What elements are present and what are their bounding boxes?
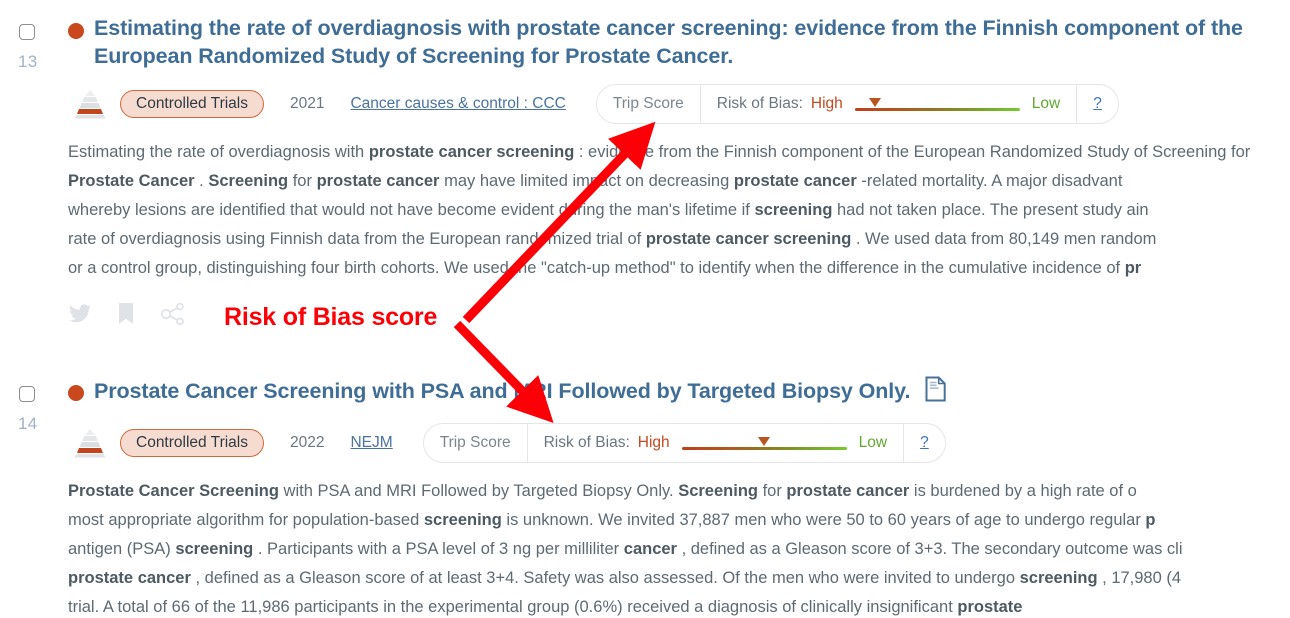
search-results-page: 13 Estimating the rate of overdiagnosis … bbox=[0, 0, 1290, 618]
abstract-text: antigen (PSA) bbox=[68, 540, 175, 558]
result-body: Prostate Cancer Screening with PSA and M… bbox=[68, 376, 1290, 618]
abstract-highlight-term: cancer bbox=[138, 569, 191, 587]
abstract-text: Estimating the rate of overdiagnosis wit… bbox=[68, 143, 369, 161]
risk-of-bias-scale[interactable] bbox=[682, 433, 847, 453]
journal-link[interactable]: NEJM bbox=[350, 434, 392, 452]
abstract-line: Prostate Cancer Screening with PSA and M… bbox=[68, 477, 1290, 506]
abstract-highlight-term: Prostate bbox=[68, 482, 134, 500]
abstract-highlight-term: prostate bbox=[317, 172, 382, 190]
risk-of-bias-widget: Trip Score Risk of Bias: High Low bbox=[596, 84, 1119, 124]
result-title-text: Estimating the rate of overdiagnosis wit… bbox=[94, 16, 1243, 68]
risk-of-bias-cell: Risk of Bias: High Low bbox=[528, 424, 903, 462]
abstract-text: with PSA and MRI Followed by Targeted Bi… bbox=[279, 482, 678, 500]
risk-of-bias-label: Risk of Bias: bbox=[717, 95, 803, 113]
abstract-highlight-term: cancer bbox=[386, 172, 439, 190]
abstract-highlight-term: pr bbox=[1125, 259, 1142, 277]
evidence-pyramid-icon bbox=[68, 428, 112, 458]
abstract-text: , 17,980 (4 bbox=[1098, 569, 1181, 587]
risk-of-bias-cell: Risk of Bias: High Low bbox=[701, 85, 1076, 123]
abstract-line: or a control group, distinguishing four … bbox=[68, 254, 1290, 283]
annotation-label: Risk of Bias score bbox=[224, 303, 437, 332]
risk-score-marker-icon bbox=[758, 437, 770, 446]
result-title-row: Estimating the rate of overdiagnosis wit… bbox=[68, 14, 1290, 70]
evidence-pyramid-icon bbox=[68, 89, 112, 119]
abstract-text: for bbox=[758, 482, 786, 500]
journal-link[interactable]: Cancer causes & control : CCC bbox=[350, 95, 565, 113]
abstract-line: rate of overdiagnosis using Finnish data… bbox=[68, 225, 1290, 254]
risk-of-bias-widget: Trip Score Risk of Bias: High Low bbox=[423, 423, 946, 463]
risk-gradient-bar bbox=[682, 447, 847, 451]
abstract-highlight-term: prostate bbox=[68, 569, 133, 587]
result-checkbox[interactable] bbox=[19, 24, 35, 40]
result-index: 14 bbox=[18, 414, 58, 434]
filled-circle-icon bbox=[68, 385, 84, 401]
abstract-highlight-term: prostate bbox=[734, 172, 799, 190]
result-checkbox[interactable] bbox=[19, 386, 35, 402]
abstract-highlight-term: screening bbox=[773, 230, 851, 248]
abstract-highlight-term: cancer bbox=[716, 230, 769, 248]
result-gutter: 13 bbox=[18, 24, 58, 72]
trip-score-label: Trip Score bbox=[613, 95, 684, 113]
risk-help-cell[interactable]: ? bbox=[904, 424, 945, 462]
help-link[interactable]: ? bbox=[1093, 95, 1102, 113]
abstract-highlight-term: screening bbox=[496, 143, 574, 161]
risk-low-label: Low bbox=[859, 434, 887, 452]
abstract-highlight-term: screening bbox=[754, 201, 832, 219]
abstract-highlight-term: Screening bbox=[678, 482, 758, 500]
trip-score-cell[interactable]: Trip Score bbox=[424, 424, 527, 462]
abstract-line: trial. A total of 66 of the 11,986 parti… bbox=[68, 593, 1290, 618]
abstract-highlight-term: prostate bbox=[369, 143, 434, 161]
trip-score-cell[interactable]: Trip Score bbox=[597, 85, 700, 123]
abstract-text: : evidence from the Finnish component of… bbox=[574, 143, 1250, 161]
result-abstract: Estimating the rate of overdiagnosis wit… bbox=[68, 138, 1290, 283]
risk-gradient-bar bbox=[855, 108, 1020, 112]
risk-of-bias-label: Risk of Bias: bbox=[544, 434, 630, 452]
twitter-icon[interactable] bbox=[68, 304, 92, 324]
abstract-line: prostate cancer , defined as a Gleason s… bbox=[68, 564, 1290, 593]
publication-type-badge[interactable]: Controlled Trials bbox=[120, 429, 264, 458]
abstract-highlight-term: Screening bbox=[199, 482, 279, 500]
abstract-line: Prostate Cancer . Screening for prostate… bbox=[68, 167, 1290, 196]
abstract-highlight-term: screening bbox=[1020, 569, 1098, 587]
abstract-highlight-term: cancer bbox=[624, 540, 677, 558]
abstract-text: is burdened by a high rate of o bbox=[909, 482, 1137, 500]
filled-circle-icon bbox=[68, 23, 84, 39]
bookmark-icon[interactable] bbox=[118, 303, 134, 325]
abstract-highlight-term: prostate bbox=[786, 482, 851, 500]
help-link[interactable]: ? bbox=[920, 434, 929, 452]
result-index: 13 bbox=[18, 52, 58, 72]
abstract-line: antigen (PSA) screening . Participants w… bbox=[68, 535, 1290, 564]
abstract-highlight-term: p bbox=[1145, 511, 1155, 529]
result-body: Estimating the rate of overdiagnosis wit… bbox=[68, 14, 1290, 327]
risk-of-bias-scale[interactable] bbox=[855, 94, 1020, 114]
result-title[interactable]: Estimating the rate of overdiagnosis wit… bbox=[94, 14, 1274, 70]
abstract-text: is unknown. We invited 37,887 men who we… bbox=[502, 511, 1146, 529]
abstract-text: trial. A total of 66 of the 11,986 parti… bbox=[68, 598, 957, 616]
abstract-highlight-term: Cancer bbox=[139, 172, 195, 190]
abstract-highlight-term: prostate bbox=[957, 598, 1022, 616]
abstract-highlight-term: Cancer bbox=[139, 482, 195, 500]
abstract-line: whereby lesions are identified that woul… bbox=[68, 196, 1290, 225]
publication-year: 2021 bbox=[290, 95, 324, 113]
abstract-text: . bbox=[195, 172, 209, 190]
result-title-text: Prostate Cancer Screening with PSA and M… bbox=[94, 379, 910, 403]
risk-high-label: High bbox=[638, 434, 670, 452]
document-icon[interactable] bbox=[924, 376, 948, 409]
abstract-text: rate of overdiagnosis using Finnish data… bbox=[68, 230, 646, 248]
abstract-text: had not taken place. The present study a… bbox=[832, 201, 1148, 219]
result-gutter: 14 bbox=[18, 386, 58, 434]
abstract-text: , defined as a Gleason score of 3+3. The… bbox=[677, 540, 1183, 558]
abstract-text: for bbox=[288, 172, 316, 190]
abstract-highlight-term: Prostate bbox=[68, 172, 134, 190]
publication-year: 2022 bbox=[290, 434, 324, 452]
abstract-text: whereby lesions are identified that woul… bbox=[68, 201, 754, 219]
trip-score-label: Trip Score bbox=[440, 434, 511, 452]
abstract-highlight-term: prostate bbox=[646, 230, 711, 248]
abstract-text: , defined as a Gleason score of at least… bbox=[191, 569, 1020, 587]
abstract-highlight-term: cancer bbox=[804, 172, 857, 190]
risk-high-label: High bbox=[811, 95, 843, 113]
abstract-text: . Participants with a PSA level of 3 ng … bbox=[253, 540, 624, 558]
abstract-text: -related mortality. A major disadvant bbox=[857, 172, 1123, 190]
result-meta-row: Controlled Trials 2022 NEJM Trip Score R… bbox=[68, 423, 1290, 463]
abstract-line: Estimating the rate of overdiagnosis wit… bbox=[68, 138, 1290, 167]
abstract-line: most appropriate algorithm for populatio… bbox=[68, 506, 1290, 535]
result-title[interactable]: Prostate Cancer Screening with PSA and M… bbox=[94, 376, 948, 409]
publication-type-badge[interactable]: Controlled Trials bbox=[120, 90, 264, 119]
abstract-highlight-term: screening bbox=[424, 511, 502, 529]
abstract-highlight-term: screening bbox=[175, 540, 253, 558]
share-icon[interactable] bbox=[160, 303, 186, 325]
result-abstract: Prostate Cancer Screening with PSA and M… bbox=[68, 477, 1290, 618]
abstract-highlight-term: cancer bbox=[856, 482, 909, 500]
abstract-text: . We used data from 80,149 men random bbox=[851, 230, 1156, 248]
result-title-row: Prostate Cancer Screening with PSA and M… bbox=[68, 376, 1290, 409]
risk-score-marker-icon bbox=[869, 98, 881, 107]
abstract-text: or a control group, distinguishing four … bbox=[68, 259, 1125, 277]
risk-help-cell[interactable]: ? bbox=[1077, 85, 1118, 123]
abstract-highlight-term: Screening bbox=[208, 172, 288, 190]
abstract-highlight-term: cancer bbox=[439, 143, 492, 161]
result-meta-row: Controlled Trials 2021 Cancer causes & c… bbox=[68, 84, 1290, 124]
abstract-text: most appropriate algorithm for populatio… bbox=[68, 511, 424, 529]
risk-low-label: Low bbox=[1032, 95, 1060, 113]
abstract-text: may have limited impact on decreasing bbox=[439, 172, 733, 190]
